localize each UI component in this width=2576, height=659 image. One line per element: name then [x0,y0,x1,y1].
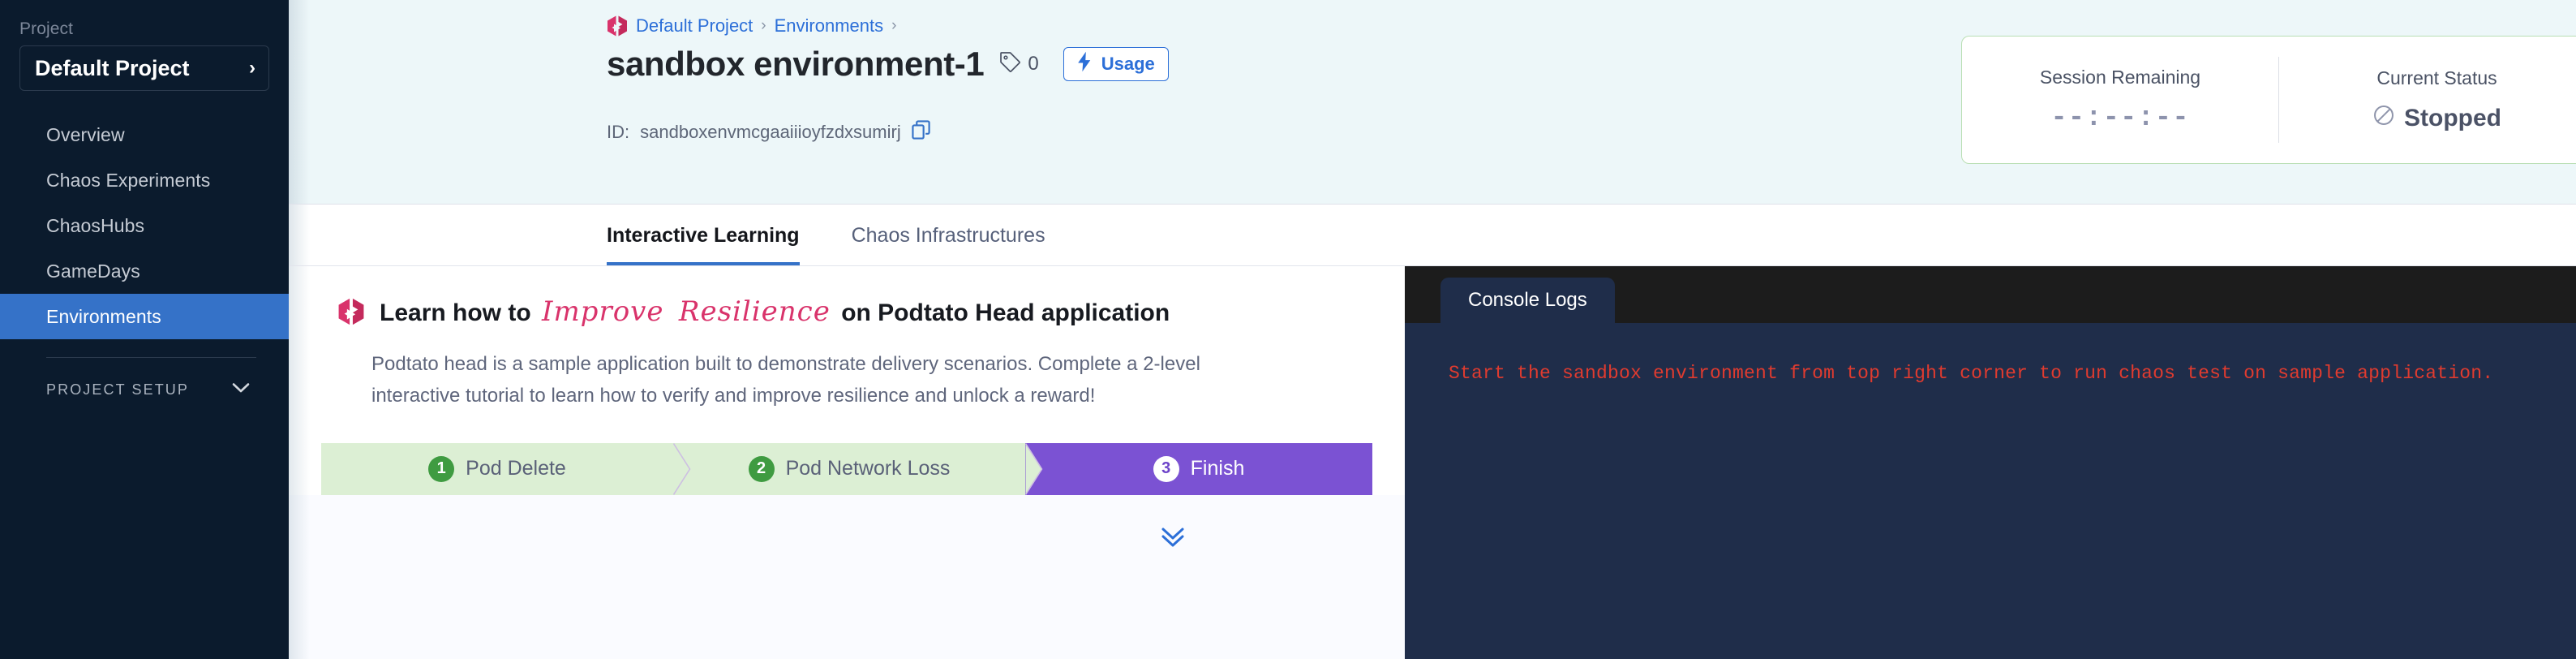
session-status-card: Session Remaining --:--:-- Current Statu… [1961,36,2576,164]
sidebar-item-chaoshubs[interactable]: ChaosHubs [0,203,289,248]
sidebar-section-label: Project [0,19,289,45]
interactive-learning-pane: Learn how to Improve Resilience on Podta… [289,266,1405,659]
sidebar-item-chaos-experiments[interactable]: Chaos Experiments [0,157,289,203]
tab-interactive-learning[interactable]: Interactive Learning [607,224,800,265]
breadcrumb-link-project[interactable]: Default Project [636,15,753,37]
tutorial-steps: 1 Pod Delete 2 Pod Network Loss [321,443,1372,495]
learning-card: Learn how to Improve Resilience on Podta… [289,266,1405,495]
sidebar-nav: Overview Chaos Experiments ChaosHubs Gam… [0,112,289,339]
step-finish[interactable]: 3 Finish [1025,443,1372,495]
learning-title: Learn how to Improve Resilience on Podta… [380,295,1170,328]
harness-logo-icon [337,297,365,326]
sidebar-item-environments[interactable]: Environments [0,294,289,339]
breadcrumb: Default Project › Environments › [607,15,896,37]
step-arrow-icon [673,443,691,495]
console-tab-strip: Console Logs [1405,266,2576,323]
title-row: sandbox environment-1 0 Usage [607,47,1169,81]
step-number: 2 [749,456,775,482]
project-setup-label: PROJECT SETUP [46,381,189,398]
console-log-body[interactable]: Start the sandbox environment from top r… [1405,323,2576,659]
step-number: 3 [1153,456,1179,482]
page-header: Default Project › Environments › sandbox… [289,0,2576,205]
tab-chaos-infrastructures[interactable]: Chaos Infrastructures [852,224,1045,265]
step-label: Pod Network Loss [786,457,951,480]
sidebar-item-label: Chaos Experiments [46,170,210,192]
chevron-down-icon [232,381,250,398]
step-arrow-icon [1025,443,1043,495]
learning-title-part2: on Podtato Head application [841,299,1170,326]
usage-button[interactable]: Usage [1063,47,1169,81]
project-selector-name: Default Project [35,56,190,81]
tab-bar: Interactive Learning Chaos Infrastructur… [289,205,2576,266]
sidebar-project-setup[interactable]: PROJECT SETUP [0,381,289,398]
session-remaining-block: Session Remaining --:--:-- [1962,67,2278,134]
sidebar-item-label: Environments [46,306,161,328]
status-badge: Stopped [2372,104,2501,133]
sidebar-item-label: GameDays [46,261,140,282]
step-label: Finish [1191,457,1245,480]
current-status-label: Current Status [2376,67,2497,89]
content-split: Learn how to Improve Resilience on Podta… [289,266,2576,659]
step-pod-delete[interactable]: 1 Pod Delete [321,443,673,495]
chevron-right-icon: › [249,58,255,78]
lightning-bolt-icon [1075,51,1093,77]
step-number: 1 [428,456,454,482]
app-root: Project Default Project › Overview Chaos… [0,0,2576,659]
double-chevron-down-icon [1155,526,1191,553]
session-remaining-value: --:--:-- [2050,103,2189,134]
status-text: Stopped [2404,105,2501,132]
console-panel: Console Logs Start the sandbox environme… [1405,266,2576,659]
tag-icon [998,50,1022,78]
breadcrumb-link-environments[interactable]: Environments [775,15,884,37]
step-label: Pod Delete [466,457,566,480]
environment-id-prefix: ID: [607,122,629,143]
current-status-block: Current Status Stopped [2278,57,2576,143]
tag-count: 0 [1028,53,1038,75]
step-pod-network-loss[interactable]: 2 Pod Network Loss [673,443,1025,495]
sidebar-item-label: ChaosHubs [46,215,144,237]
sidebar: Project Default Project › Overview Chaos… [0,0,289,659]
copy-icon[interactable] [912,120,931,144]
learning-title-script-improve: Improve [538,295,668,328]
breadcrumb-separator: › [761,17,766,35]
sidebar-item-overview[interactable]: Overview [0,112,289,157]
sidebar-item-gamedays[interactable]: GameDays [0,248,289,294]
stopped-circle-slash-icon [2372,104,2395,133]
usage-button-label: Usage [1101,54,1155,75]
learning-title-part1: Learn how to [380,299,531,326]
session-remaining-label: Session Remaining [2040,67,2200,88]
sidebar-item-label: Overview [46,124,125,146]
learning-description: Podtato head is a sample application bui… [371,349,1231,412]
page-title: sandbox environment-1 [607,47,984,81]
environment-id-row: ID: sandboxenvmcgaaiiioyfzdxsumirj [607,120,931,144]
learning-title-script-resilience: Resilience [675,295,835,328]
environment-id-value: sandboxenvmcgaaiiioyfzdxsumirj [640,122,901,143]
console-log-line: Start the sandbox environment from top r… [1449,359,2576,389]
project-selector[interactable]: Default Project › [19,45,269,91]
main-region: Default Project › Environments › sandbox… [289,0,2576,659]
harness-logo-icon [607,15,628,37]
tab-console-logs[interactable]: Console Logs [1440,278,1615,323]
learning-heading: Learn how to Improve Resilience on Podta… [337,295,1372,328]
tag-group: 0 [998,50,1038,78]
sidebar-divider [46,357,256,358]
breadcrumb-separator: › [891,17,896,35]
